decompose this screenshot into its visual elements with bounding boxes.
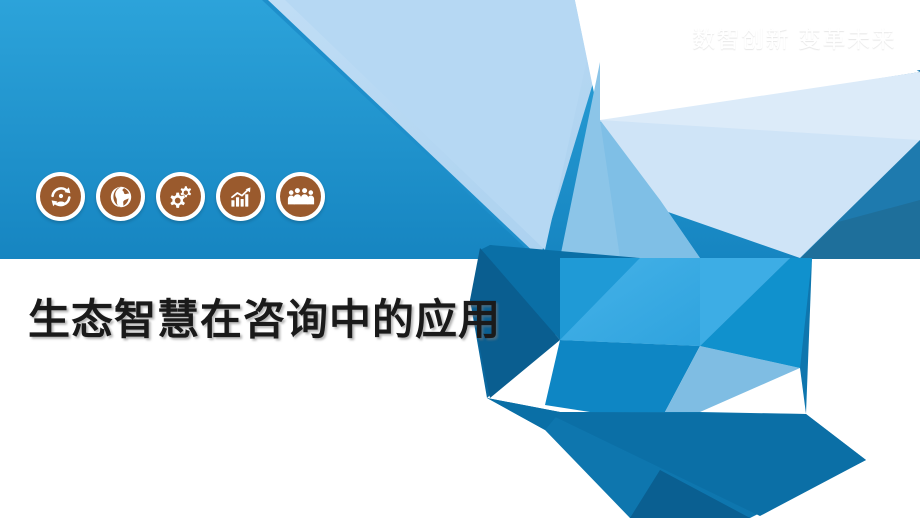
- bar-chart-growth-icon: [220, 176, 261, 217]
- recycle-person-icon: [40, 176, 81, 217]
- icon-badge-gears[interactable]: [156, 172, 205, 221]
- globe-icon: [100, 176, 141, 217]
- gears-icon: [160, 176, 201, 217]
- icon-badge-globe[interactable]: [96, 172, 145, 221]
- page-title: 生态智慧在咨询中的应用: [28, 296, 501, 343]
- icon-row: [36, 172, 325, 221]
- icon-badge-bar-chart[interactable]: [216, 172, 265, 221]
- background-artwork: [0, 0, 920, 518]
- slide-canvas: 数智创新 变革未来: [0, 0, 920, 518]
- icon-badge-team[interactable]: [276, 172, 325, 221]
- team-people-icon: [280, 176, 321, 217]
- tagline-text: 数智创新 变革未来: [692, 28, 896, 51]
- icon-badge-recycle-person[interactable]: [36, 172, 85, 221]
